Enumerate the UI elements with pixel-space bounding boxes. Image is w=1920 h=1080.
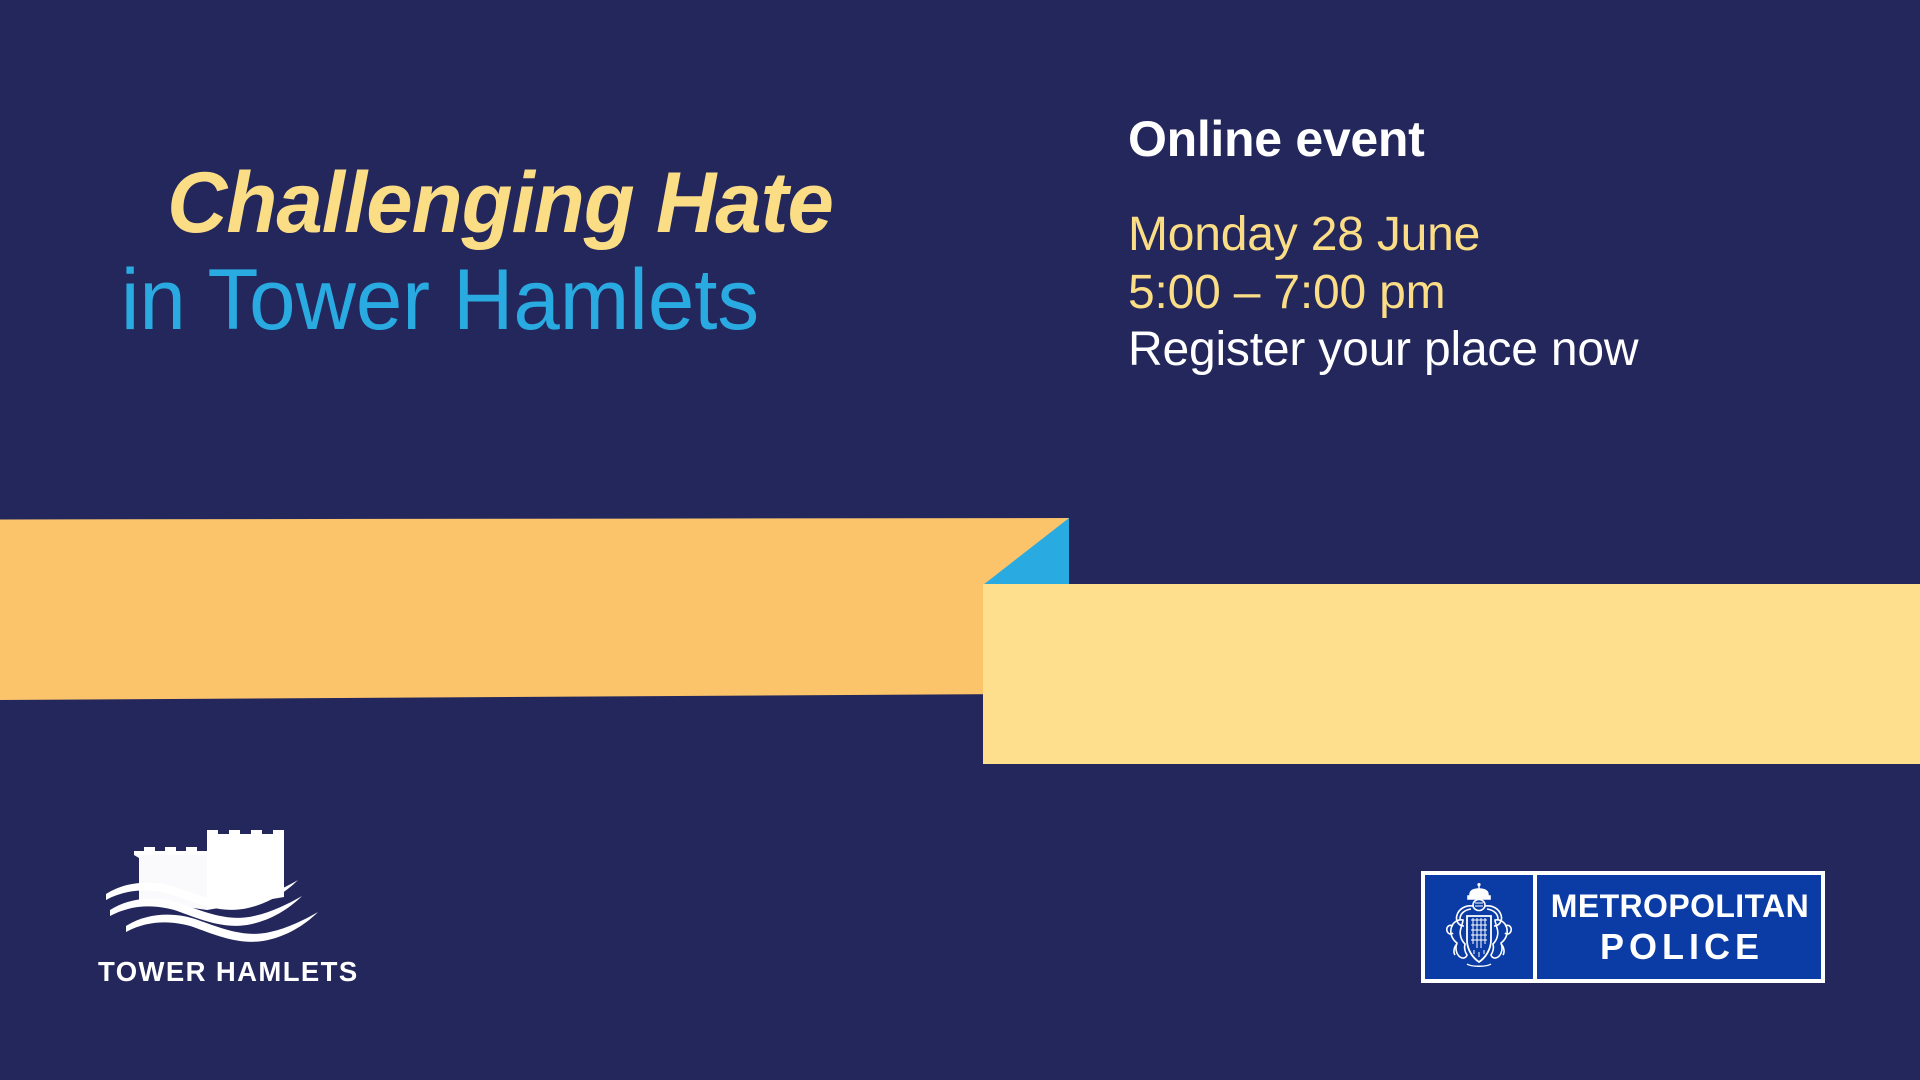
tower-hamlets-wordmark: TOWER HAMLETS [98, 956, 330, 988]
metropolitan-police-logo: METROPOLITAN POLICE [1421, 871, 1825, 983]
headline-line-secondary: in Tower Hamlets [0, 252, 983, 348]
royal-coat-of-arms-crest-icon [1437, 882, 1521, 972]
event-poster: Challenging Hate in Tower Hamlets Online… [0, 0, 1920, 1080]
ribbon-band-orange [0, 518, 1069, 700]
event-register-cta: Register your place now [1128, 321, 1848, 379]
met-crest-panel [1425, 875, 1537, 979]
met-wordmark-line1: METROPOLITAN [1551, 890, 1809, 922]
event-date: Monday 28 June [1128, 206, 1848, 264]
event-time: 5:00 – 7:00 pm [1128, 264, 1848, 322]
event-details-block: Online event Monday 28 June 5:00 – 7:00 … [1128, 112, 1848, 379]
ribbon-band-yellow [983, 584, 1920, 764]
met-wordmark-panel: METROPOLITAN POLICE [1537, 875, 1821, 979]
met-wordmark-line2: POLICE [1596, 929, 1764, 965]
headline-line-primary: Challenging Hate [15, 160, 985, 248]
tower-hamlets-logo: TOWER HAMLETS [98, 822, 330, 988]
tower-hamlets-castle-waves-icon [98, 822, 330, 954]
event-type-heading: Online event [1128, 112, 1848, 166]
poster-headline: Challenging Hate in Tower Hamlets [0, 160, 1000, 348]
